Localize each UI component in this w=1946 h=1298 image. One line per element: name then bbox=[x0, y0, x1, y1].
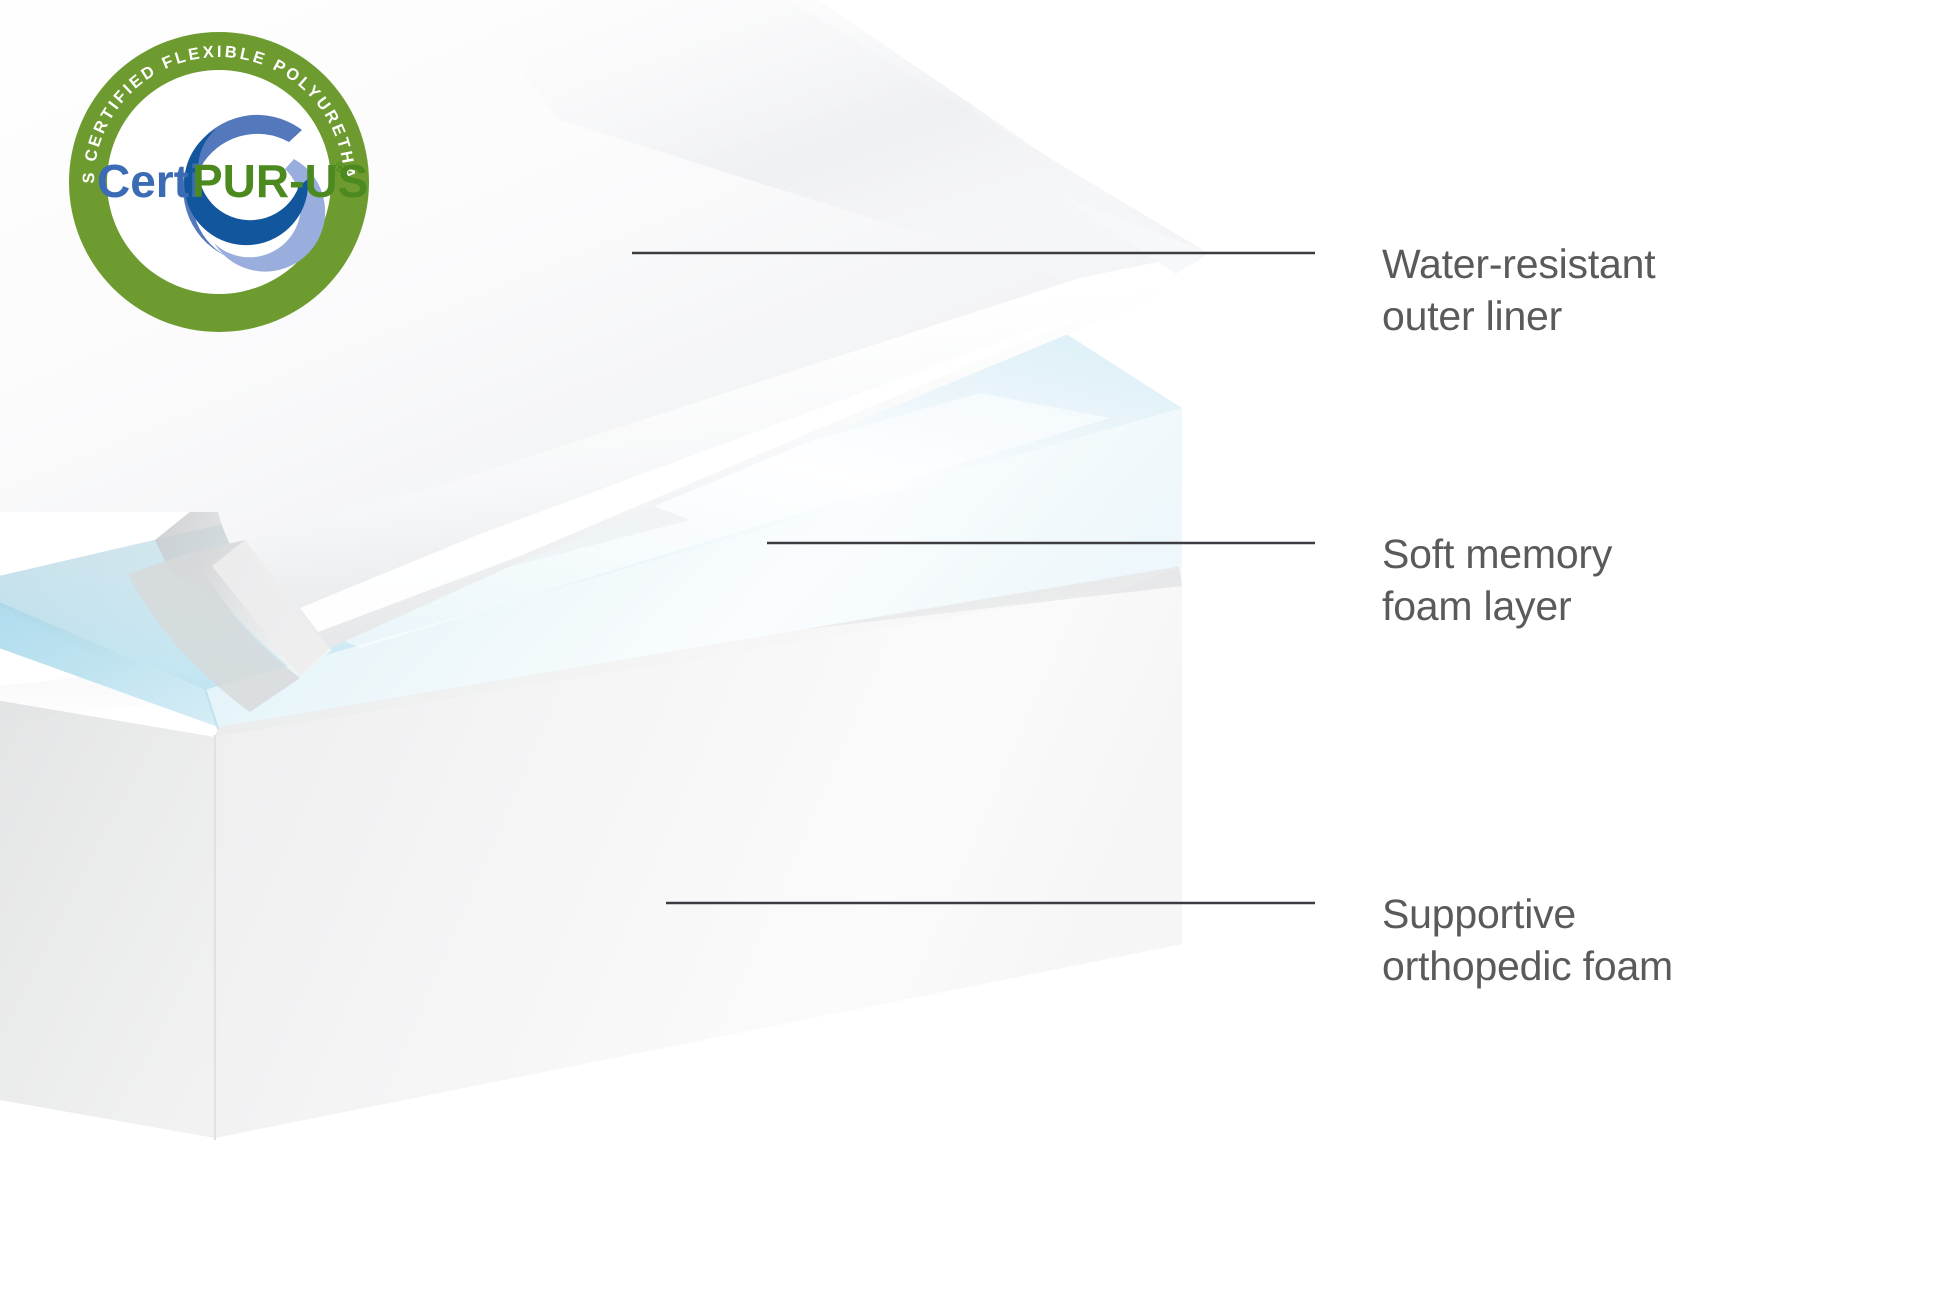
certipur-us-seal-graphic: CONTAINS CERTIFIED FLEXIBLE POLYURETHANE… bbox=[66, 29, 372, 335]
badge-wordmark: Certi PUR-US ® bbox=[97, 155, 368, 207]
certipur-us-badge: CONTAINS CERTIFIED FLEXIBLE POLYURETHANE… bbox=[66, 29, 372, 335]
callout-label-supportive-orthopedic-foam: Supportive orthopedic foam bbox=[1382, 888, 1673, 992]
badge-registered-mark: ® bbox=[335, 159, 346, 175]
base-side-face bbox=[0, 694, 215, 1138]
diagram-canvas: CONTAINS CERTIFIED FLEXIBLE POLYURETHANE… bbox=[0, 0, 1946, 1298]
callout-label-soft-memory-foam-layer: Soft memory foam layer bbox=[1382, 528, 1612, 632]
callout-label-water-resistant-outer-liner: Water-resistant outer liner bbox=[1382, 238, 1655, 342]
badge-wordmark-certi: Certi bbox=[97, 155, 202, 207]
